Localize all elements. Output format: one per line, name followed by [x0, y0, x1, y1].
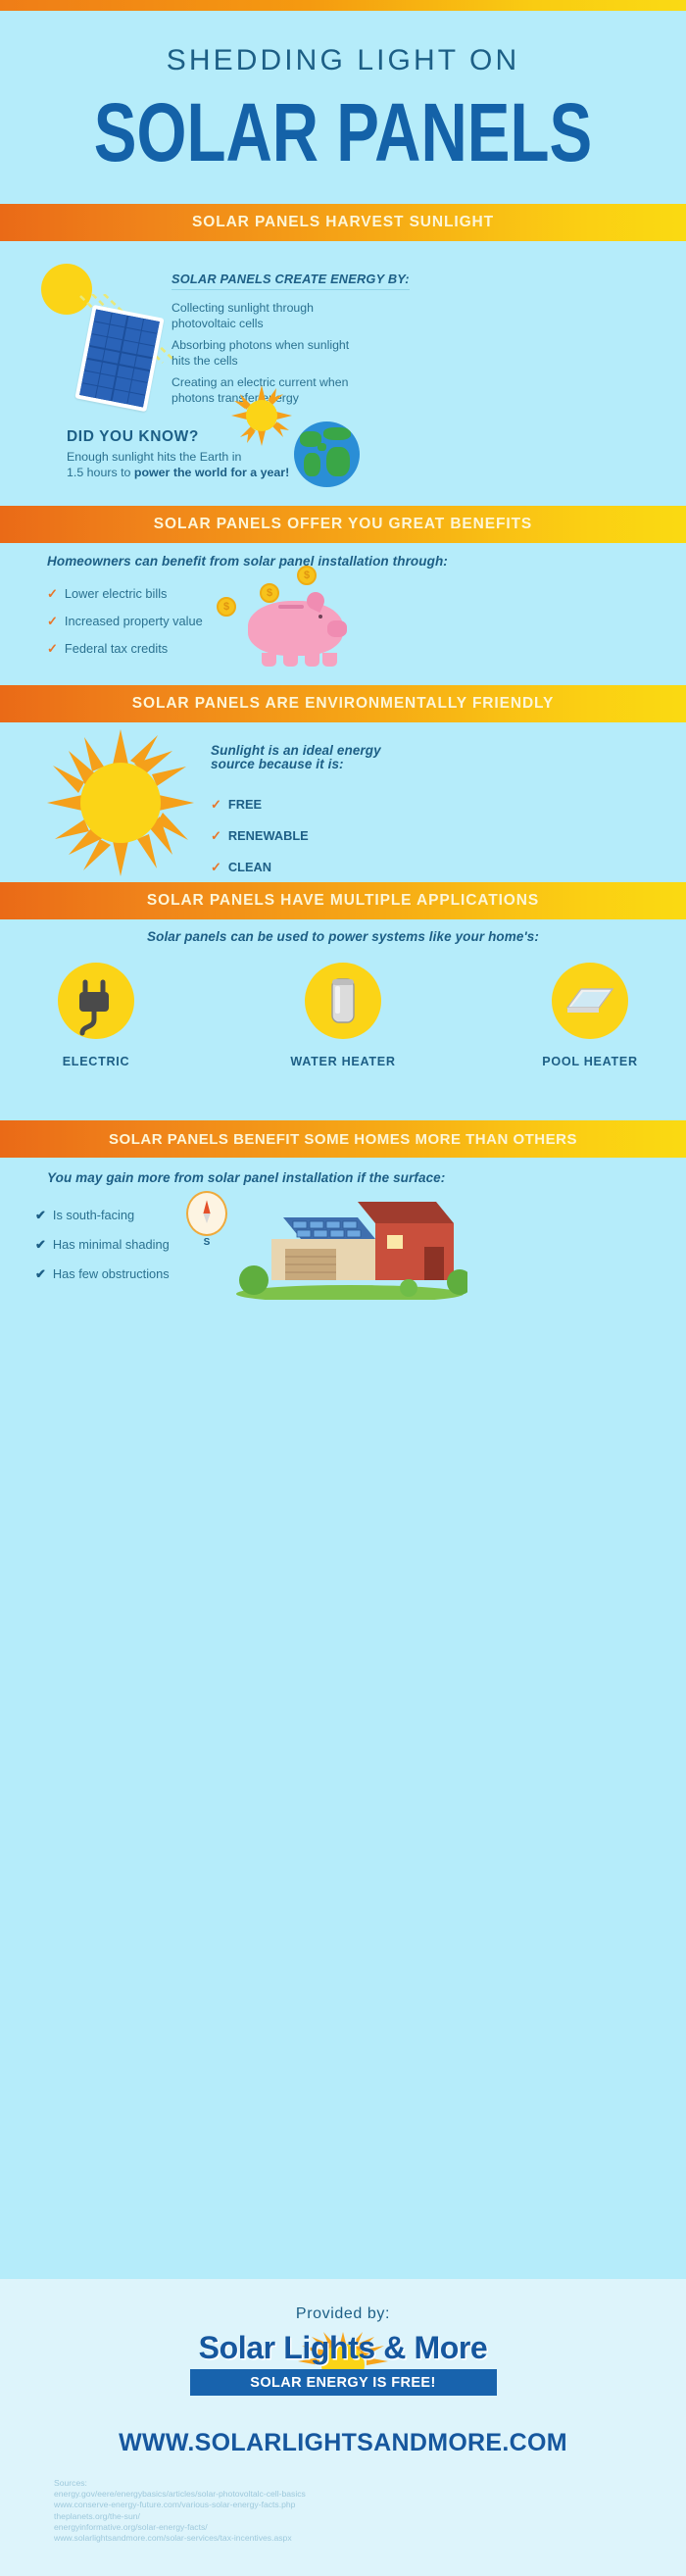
section-bar-harvest-label: SOLAR PANELS HARVEST SUNLIGHT — [192, 214, 494, 231]
eco-label-3: CLEAN — [228, 860, 271, 874]
benefit-row-3: ✓ Federal tax credits — [47, 641, 168, 657]
benefit-label-2: Increased property value — [65, 614, 203, 628]
application-electric: ELECTRIC — [8, 963, 184, 1068]
harvest-item-2: Absorbing photons when sunlight hits the… — [171, 338, 358, 369]
benefit-row-1: ✓ Lower electric bills — [47, 586, 167, 602]
page-title: SOLAR PANELS — [75, 91, 611, 173]
coin-icon-2: $ — [297, 566, 317, 585]
harvest-item-1: Collecting sunlight through photovoltaic… — [171, 301, 358, 331]
home-label-2: Has minimal shading — [53, 1237, 170, 1252]
footer: Provided by: Solar Lights & More SOLAR E… — [0, 2279, 686, 2576]
check-icon: ✓ — [47, 586, 58, 602]
sources-block: Sources: energy.gov/eere/energybasics/ar… — [54, 2478, 642, 2544]
compass-south-label: S — [188, 1237, 225, 1248]
section-2-lead: Homeowners can benefit from solar panel … — [47, 554, 448, 569]
piggy-bank-icon — [248, 601, 343, 656]
section-bar-environment: SOLAR PANELS ARE ENVIRONMENTALLY FRIENDL… — [0, 685, 686, 722]
header: SHEDDING LIGHT ON SOLAR PANELS — [0, 11, 686, 196]
section-3-lead-line1: Sunlight is an ideal energy — [211, 743, 381, 758]
did-you-know-text: Enough sunlight hits the Earth in 1.5 ho… — [67, 449, 302, 480]
infographic-page: SHEDDING LIGHT ON SOLAR PANELS SOLAR PAN… — [0, 0, 686, 2576]
application-water-heater-label: WATER HEATER — [255, 1055, 431, 1068]
application-pool-heater-label: POOL HEATER — [502, 1055, 678, 1068]
dyk-line-1: Enough sunlight hits the Earth in — [67, 450, 241, 464]
section-5-lead: You may gain more from solar panel insta… — [47, 1170, 445, 1185]
large-sun-icon — [47, 729, 194, 876]
section-bar-harvest: SOLAR PANELS HARVEST SUNLIGHT — [0, 204, 686, 241]
logo-tagline-bar: SOLAR ENERGY IS FREE! — [190, 2369, 497, 2396]
section-3-lead-line2: source because it is: — [211, 757, 344, 771]
logo-tagline: SOLAR ENERGY IS FREE! — [250, 2375, 435, 2391]
section-bar-applications-label: SOLAR PANELS HAVE MULTIPLE APPLICATIONS — [147, 892, 539, 910]
section-4-lead: Solar panels can be used to power system… — [0, 929, 686, 944]
benefit-label-3: Federal tax credits — [65, 641, 168, 656]
application-electric-label: ELECTRIC — [8, 1055, 184, 1068]
check-icon: ✓ — [47, 641, 58, 657]
sunburst-icon — [231, 385, 292, 446]
check-icon: ✓ — [211, 828, 221, 844]
eco-label-1: FREE — [228, 797, 262, 812]
check-icon: ✔ — [35, 1237, 46, 1253]
application-water-heater: WATER HEATER — [255, 963, 431, 1068]
application-pool-heater: POOL HEATER — [502, 963, 678, 1068]
provided-by-label: Provided by: — [0, 2305, 686, 2323]
company-logo: Solar Lights & More SOLAR ENERGY IS FREE… — [0, 2330, 686, 2396]
source-2: www.conserve-energy-future.com/various-s… — [54, 2500, 642, 2510]
benefit-label-1: Lower electric bills — [65, 586, 168, 601]
home-row-2: ✔ Has minimal shading — [35, 1237, 170, 1253]
source-3: theplanets.org/the-sun/ — [54, 2511, 642, 2522]
dyk-bold: power the world for a year! — [134, 466, 289, 479]
section-bar-homes: SOLAR PANELS BENEFIT SOME HOMES MORE THA… — [0, 1120, 686, 1158]
website-url[interactable]: WWW.SOLARLIGHTSANDMORE.COM — [0, 2429, 686, 2457]
check-icon: ✓ — [211, 860, 221, 875]
coin-icon-1: $ — [260, 583, 279, 603]
check-icon: ✓ — [211, 797, 221, 813]
section-bar-benefits: SOLAR PANELS OFFER YOU GREAT BENEFITS — [0, 506, 686, 543]
home-row-3: ✔ Has few obstructions — [35, 1266, 170, 1282]
coin-icon-3: $ — [217, 597, 236, 617]
house-illustration — [232, 1192, 467, 1300]
logo-name: Solar Lights & More — [199, 2330, 488, 2366]
eco-row-3: ✓ CLEAN — [211, 860, 271, 875]
eco-row-2: ✓ RENEWABLE — [211, 828, 309, 844]
top-gradient-sliver — [0, 0, 686, 11]
sources-label: Sources: — [54, 2478, 642, 2489]
source-4: energyinformative.org/solar-energy-facts… — [54, 2522, 642, 2533]
water-heater-icon — [305, 963, 381, 1039]
did-you-know-title: DID YOU KNOW? — [67, 428, 199, 446]
check-icon: ✔ — [35, 1208, 46, 1223]
section-bar-homes-label: SOLAR PANELS BENEFIT SOME HOMES MORE THA… — [109, 1131, 577, 1148]
home-label-3: Has few obstructions — [53, 1266, 170, 1281]
section-bar-environment-label: SOLAR PANELS ARE ENVIRONMENTALLY FRIENDL… — [132, 695, 554, 713]
benefit-row-2: ✓ Increased property value — [47, 614, 203, 629]
section-bar-applications: SOLAR PANELS HAVE MULTIPLE APPLICATIONS — [0, 882, 686, 919]
home-row-1: ✔ Is south-facing — [35, 1208, 134, 1223]
source-5: www.solarlightsandmore.com/solar-service… — [54, 2533, 642, 2544]
eco-row-1: ✓ FREE — [211, 797, 262, 813]
pool-heater-icon — [552, 963, 628, 1039]
section-bar-benefits-label: SOLAR PANELS OFFER YOU GREAT BENEFITS — [154, 516, 532, 533]
check-icon: ✓ — [47, 614, 58, 629]
check-icon: ✔ — [35, 1266, 46, 1282]
header-kicker: SHEDDING LIGHT ON — [0, 44, 686, 77]
earth-globe-icon — [294, 421, 360, 487]
plug-icon — [58, 963, 134, 1039]
dyk-line-2: 1.5 hours to — [67, 466, 134, 479]
home-label-1: Is south-facing — [53, 1208, 134, 1222]
compass-icon: S — [186, 1191, 227, 1236]
eco-label-2: RENEWABLE — [228, 828, 309, 843]
section-1-lead: SOLAR PANELS CREATE ENERGY BY: — [171, 272, 410, 290]
source-1: energy.gov/eere/energybasics/articles/so… — [54, 2489, 642, 2500]
